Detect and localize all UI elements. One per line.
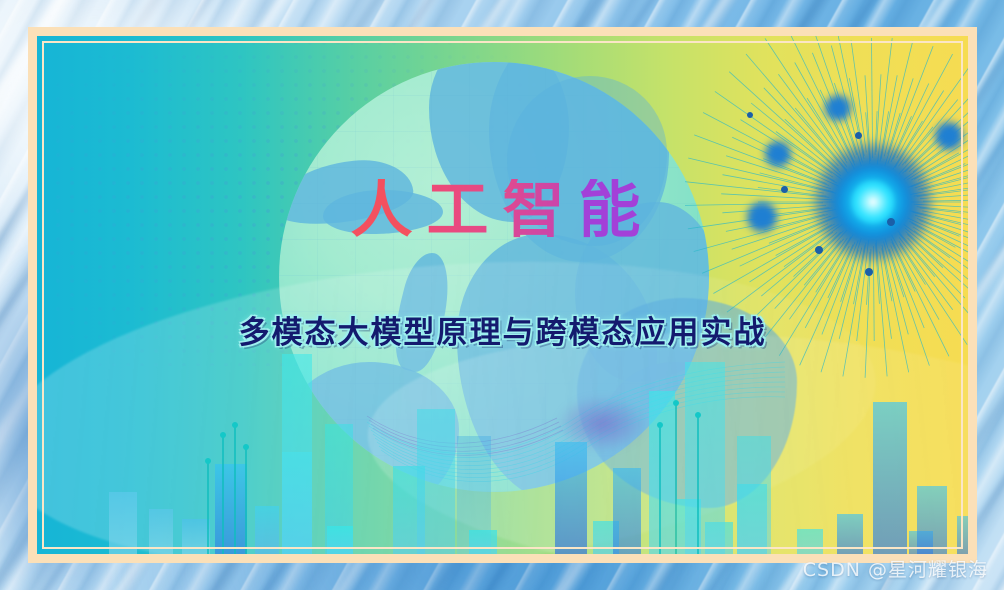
decor-dot <box>747 112 753 118</box>
chart-marker <box>234 426 236 554</box>
chart-bar <box>873 402 907 554</box>
chart-marker <box>245 448 247 554</box>
chart-bar <box>327 526 353 554</box>
chart-bar <box>837 514 863 554</box>
chart-bar <box>917 486 947 554</box>
chart-marker <box>659 426 661 554</box>
page-title: 人工智能 <box>37 179 968 241</box>
frame-inner-band: 人工智能 多模态大模型原理与跨模态应用实战 <box>37 36 968 554</box>
poster-canvas: 人工智能 多模态大模型原理与跨模态应用实战 CSDN @星河耀银海 <box>0 0 1004 590</box>
title-char-3: 能 <box>579 179 655 241</box>
decor-dot <box>935 122 963 150</box>
chart-bar <box>555 442 587 554</box>
poster-frame: 人工智能 多模态大模型原理与跨模态应用实战 <box>28 27 977 563</box>
chart-marker <box>697 416 699 554</box>
chart-marker <box>207 462 209 554</box>
chart-marker <box>675 404 677 554</box>
title-char-1: 工 <box>426 179 502 241</box>
chart-bar <box>109 492 137 554</box>
title-char-0: 人 <box>350 179 426 241</box>
chart-bar <box>613 468 641 554</box>
chart-bar <box>282 354 312 554</box>
chart-marker <box>222 436 224 554</box>
chart-bar <box>737 436 771 554</box>
page-subtitle: 多模态大模型原理与跨模态应用实战 <box>37 318 968 349</box>
poster-inner-canvas: 人工智能 多模态大模型原理与跨模态应用实战 <box>37 36 968 554</box>
decor-dot <box>815 246 823 254</box>
chart-bar <box>685 362 725 554</box>
watermark: CSDN @星河耀银海 <box>803 555 988 582</box>
chart-bar <box>417 409 455 554</box>
chart-bar <box>149 509 173 554</box>
chart-bar <box>215 464 247 554</box>
chart-bar <box>182 519 210 554</box>
chart-bar <box>255 506 279 554</box>
decor-dot <box>825 95 851 121</box>
chart-bar <box>957 516 968 554</box>
chart-bar <box>797 529 823 554</box>
title-char-2: 智 <box>503 179 579 241</box>
decor-dot <box>865 268 873 276</box>
decor-dot <box>765 141 791 167</box>
chart-bar <box>469 530 497 554</box>
chart-bar <box>649 391 675 554</box>
decor-dot <box>855 132 862 139</box>
